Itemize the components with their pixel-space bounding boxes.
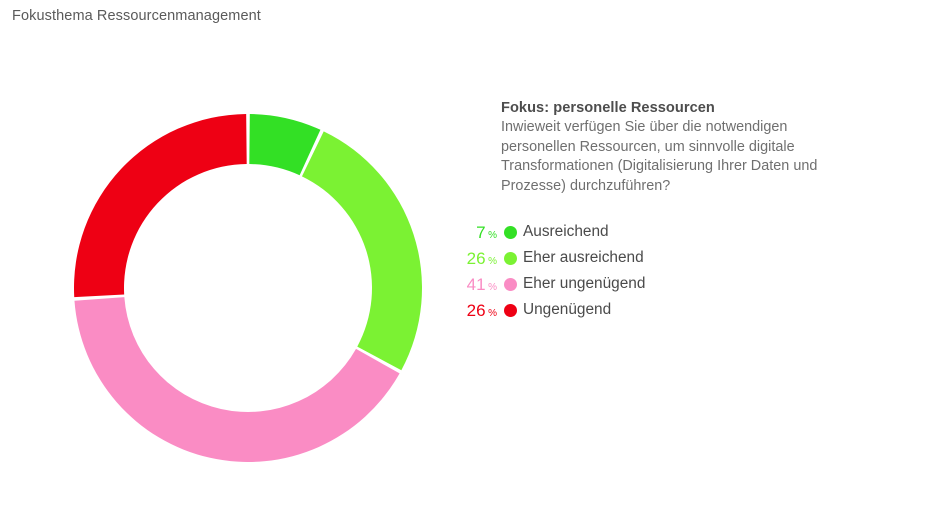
- legend-percent-group: 7%: [457, 223, 497, 242]
- donut-chart-svg: [74, 114, 422, 462]
- page-title: Fokusthema Ressourcenmanagement: [12, 8, 261, 24]
- donut-slice[interactable]: [302, 131, 422, 370]
- legend-percent-group: 26%: [457, 249, 497, 268]
- page-root: Fokusthema Ressourcenmanagement Fokus: p…: [0, 0, 936, 526]
- legend-percent-sign: %: [488, 230, 497, 242]
- legend-color-swatch-icon: [504, 252, 517, 265]
- focus-panel-title: Fokus: personelle Ressourcen: [501, 99, 841, 117]
- legend-percent-sign: %: [488, 282, 497, 294]
- donut-slice[interactable]: [74, 297, 399, 462]
- donut-slices: [74, 114, 422, 462]
- legend-item[interactable]: 7%Ausreichend: [457, 219, 817, 245]
- legend-percent-group: 41%: [457, 275, 497, 294]
- legend-percent-sign: %: [488, 256, 497, 268]
- focus-panel-question: Inwieweit verfügen Sie über die notwendi…: [501, 118, 841, 196]
- legend-color-swatch-icon: [504, 304, 517, 317]
- legend-color-swatch-icon: [504, 226, 517, 239]
- legend-item[interactable]: 26%Ungenügend: [457, 297, 817, 323]
- legend-percent-group: 26%: [457, 301, 497, 320]
- legend-percent-sign: %: [488, 308, 497, 320]
- legend-percent-value: 26: [467, 301, 486, 320]
- donut-chart: [74, 114, 422, 462]
- legend-item[interactable]: 41%Eher ungenügend: [457, 271, 817, 297]
- legend-item-label: Ungenügend: [523, 301, 611, 319]
- donut-slice[interactable]: [74, 114, 247, 297]
- focus-panel: Fokus: personelle Ressourcen Inwieweit v…: [501, 99, 841, 196]
- legend-item-label: Eher ungenügend: [523, 275, 645, 293]
- legend-percent-value: 7: [476, 223, 485, 242]
- legend-percent-value: 26: [467, 249, 486, 268]
- legend-item[interactable]: 26%Eher ausreichend: [457, 245, 817, 271]
- legend-percent-value: 41: [467, 275, 486, 294]
- legend-color-swatch-icon: [504, 278, 517, 291]
- legend-item-label: Eher ausreichend: [523, 249, 644, 267]
- legend-item-label: Ausreichend: [523, 223, 609, 241]
- chart-legend: 7%Ausreichend26%Eher ausreichend41%Eher …: [457, 219, 817, 323]
